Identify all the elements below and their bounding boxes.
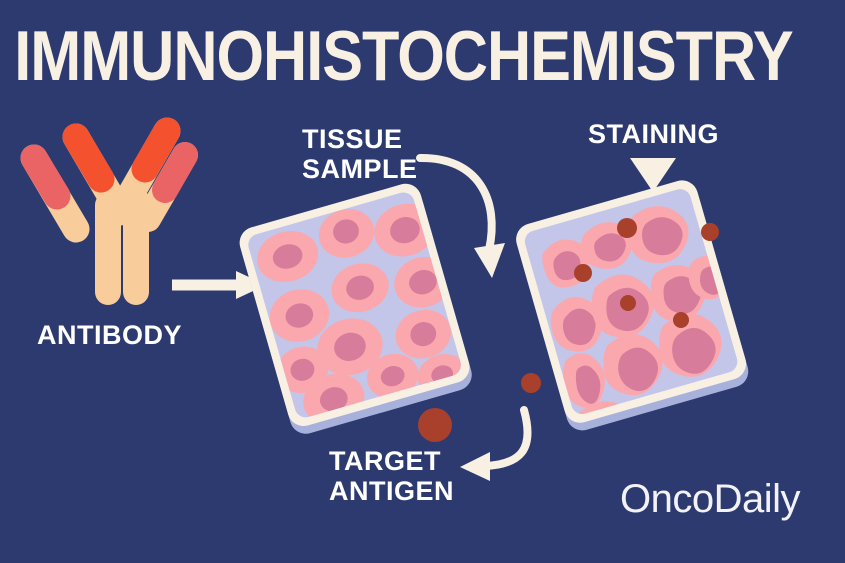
tissue-sample-label: TISSUE SAMPLE [302,124,418,184]
target-antigen-label: TARGET ANTIGEN [329,446,454,506]
infographic-canvas: IMMUNOHISTOCHEMISTRY [0,0,845,563]
antigen-dot-icon [620,295,636,311]
antigen-dot-icon [574,264,592,282]
oncodaily-logo: OncoDaily [620,477,801,521]
antigen-dot-icon [617,218,637,238]
target-antigen-label-line1: TARGET [329,446,441,476]
antigen-dot-icon [673,312,689,328]
target-antigen-dot-icon [418,408,452,442]
title-text: IMMUNOHISTOCHEMISTRY [14,17,793,96]
target-antigen-label-line2: ANTIGEN [329,476,454,506]
immunohistochemistry-diagram: IMMUNOHISTOCHEMISTRY [0,0,845,563]
tissue-sample-label-line1: TISSUE [302,124,403,154]
antigen-dot-icon [521,373,541,393]
staining-label: STAINING [588,119,719,149]
page-title: IMMUNOHISTOCHEMISTRY [14,17,793,96]
tissue-sample-label-line2: SAMPLE [302,154,418,184]
antigen-dot-icon [701,223,719,241]
antibody-label: ANTIBODY [37,320,182,350]
